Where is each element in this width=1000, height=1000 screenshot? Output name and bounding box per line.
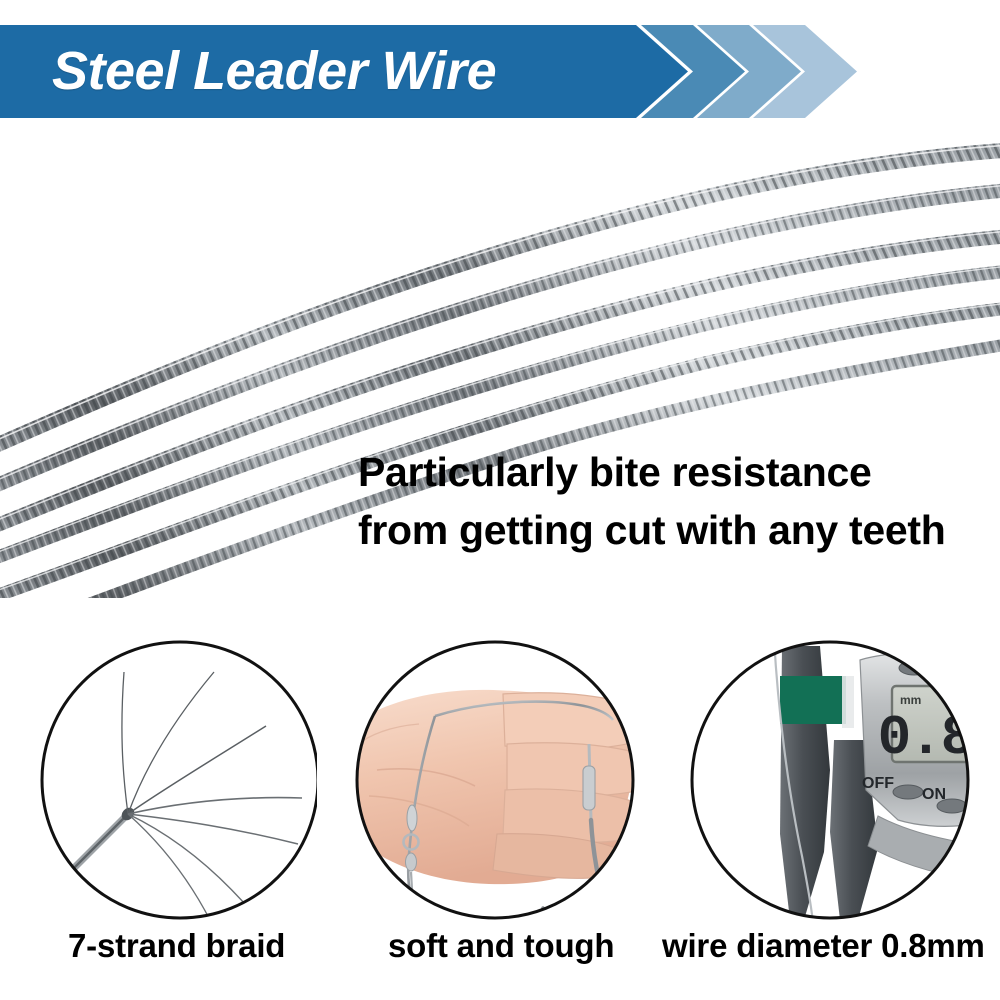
hand-with-wire-illustration	[317, 620, 677, 940]
feature-seven-strand-braid	[42, 640, 318, 916]
feature-wire-diameter: mm 0.80 mm/inch OFF ON ZERO	[692, 640, 968, 916]
feature-3-caption: wire diameter 0.8mm	[662, 928, 985, 964]
feature-2-caption: soft and tough	[388, 928, 614, 964]
banner-title: Steel Leader Wire	[52, 43, 496, 97]
feature-soft-and-tough	[357, 640, 633, 916]
headline-line-2: from getting cut with any teeth	[358, 501, 998, 559]
headline-text: Particularly bite resistance from gettin…	[358, 443, 998, 559]
feature-2-circle	[357, 640, 633, 916]
digital-caliper-illustration: mm 0.80 mm/inch OFF ON ZERO	[652, 620, 1000, 940]
feature-1-caption: 7-strand braid	[68, 928, 285, 964]
caliper-zero-button[interactable]	[937, 799, 967, 813]
unravelled-strands-illustration	[2, 620, 362, 940]
caliper-green-label	[780, 676, 846, 724]
caliper-off-label: OFF	[862, 775, 894, 792]
headline-line-1: Particularly bite resistance	[358, 443, 998, 501]
feature-3-circle: mm 0.80 mm/inch OFF ON ZERO	[692, 640, 968, 916]
header-banner: Steel Leader Wire	[0, 25, 1000, 118]
caliper-on-button[interactable]	[893, 785, 923, 799]
feature-1-circle	[42, 640, 318, 916]
caliper-unit-indicator: mm	[900, 693, 921, 707]
